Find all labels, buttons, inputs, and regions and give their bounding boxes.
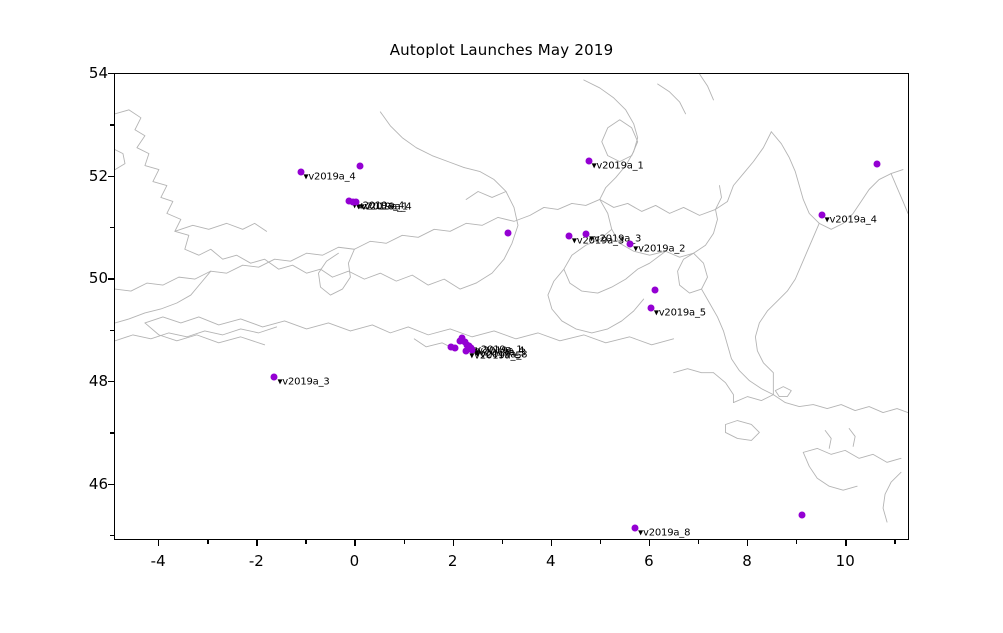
x-tick-label: 8 [742, 552, 752, 570]
y-axis-ticks [114, 73, 115, 540]
y-tick-major [108, 73, 114, 74]
x-tick-minor [698, 540, 699, 544]
y-tick-major [108, 176, 114, 177]
x-tick-minor [796, 540, 797, 544]
x-tick-major [158, 540, 159, 546]
page-title: Autoplot Launches May 2019 [0, 41, 1003, 59]
x-tick-label: 0 [350, 552, 360, 570]
y-tick-label: 54 [89, 64, 108, 82]
y-tick-minor [110, 124, 114, 125]
x-axis-tick-labels: -4-20246810 [114, 552, 909, 576]
y-tick-minor [110, 330, 114, 331]
y-tick-major [108, 278, 114, 279]
plot-area: ▾v2019a_4▾v2019a_4▾v2019a_1▾v2019a_4▾v20… [114, 73, 909, 540]
y-tick-minor [110, 227, 114, 228]
data-point [357, 163, 364, 170]
x-tick-major [354, 540, 355, 546]
x-tick-minor [600, 540, 601, 544]
point-annotation: ▾v2019a_4 [304, 171, 356, 182]
y-tick-major [108, 484, 114, 485]
figure-canvas: Autoplot Launches May 2019 [0, 0, 1003, 633]
x-tick-minor [404, 540, 405, 544]
y-axis-tick-labels: 5452504846 [60, 73, 108, 540]
x-tick-label: 2 [448, 552, 458, 570]
x-tick-label: -2 [249, 552, 264, 570]
x-tick-label: 10 [836, 552, 855, 570]
x-axis-ticks [114, 540, 909, 548]
x-tick-minor [502, 540, 503, 544]
x-tick-major [551, 540, 552, 546]
y-tick-label: 48 [89, 372, 108, 390]
data-point [799, 512, 806, 519]
x-tick-label: 4 [546, 552, 556, 570]
y-tick-major [108, 381, 114, 382]
point-annotation: ▾v2019a_8 [638, 528, 690, 539]
x-tick-major [845, 540, 846, 546]
x-tick-minor [305, 540, 306, 544]
y-tick-minor [110, 432, 114, 433]
point-annotation: ▾v2019a_3 [277, 376, 329, 387]
y-tick-label: 46 [89, 475, 108, 493]
x-tick-major [453, 540, 454, 546]
basemap-coastlines [115, 74, 908, 539]
point-annotation: ▾v2019a_5 [654, 307, 706, 318]
point-annotation: ▾v2019a_2 [633, 244, 685, 255]
point-annotation: ▾v2019a_4 [825, 215, 877, 226]
point-annotation: ▾v2019a_4 [359, 202, 411, 213]
data-point [873, 160, 880, 167]
y-tick-label: 50 [89, 269, 108, 287]
x-tick-major [649, 540, 650, 546]
x-tick-label: -4 [151, 552, 166, 570]
x-tick-minor [207, 540, 208, 544]
x-tick-minor [894, 540, 895, 544]
data-point [451, 345, 458, 352]
y-tick-minor [110, 535, 114, 536]
data-point [651, 286, 658, 293]
point-annotation: ▾v2019a_1 [592, 161, 644, 172]
data-point [504, 230, 511, 237]
y-tick-label: 52 [89, 167, 108, 185]
x-tick-major [747, 540, 748, 546]
x-tick-major [256, 540, 257, 546]
point-annotation: ▾v2019a_5 [469, 351, 521, 362]
x-tick-label: 6 [644, 552, 654, 570]
